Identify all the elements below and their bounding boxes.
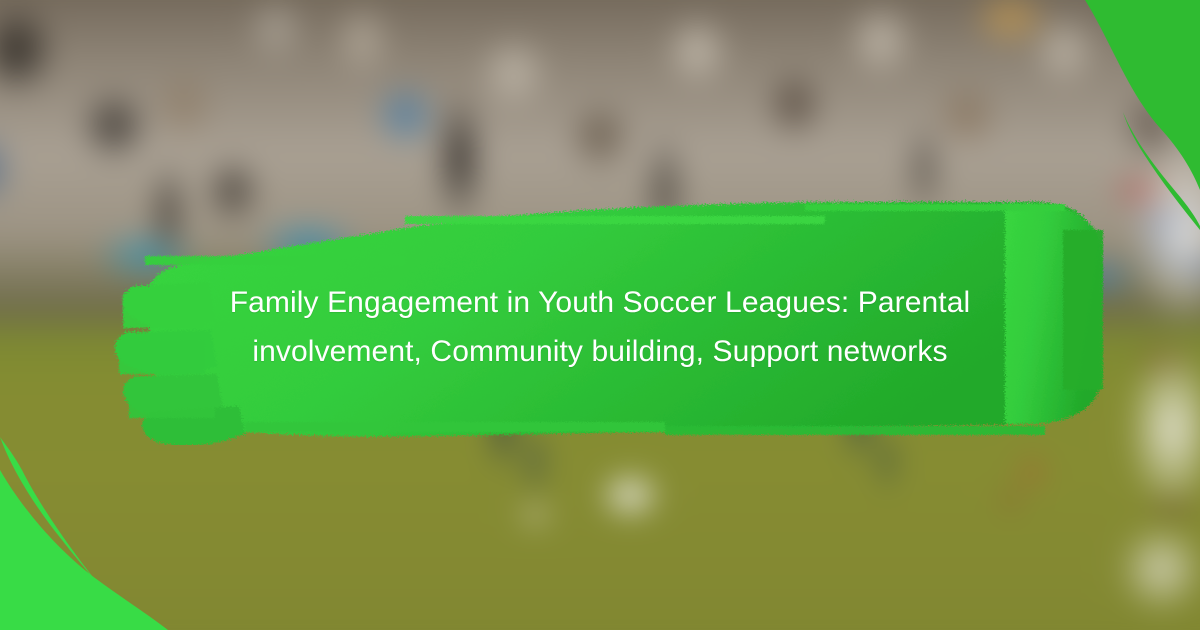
- social-card: Family Engagement in Youth Soccer League…: [0, 0, 1200, 630]
- title-line-1: Family Engagement in Youth Soccer League…: [170, 278, 1030, 327]
- page-title: Family Engagement in Youth Soccer League…: [170, 278, 1030, 376]
- title-line-2: involvement, Community building, Support…: [170, 327, 1030, 376]
